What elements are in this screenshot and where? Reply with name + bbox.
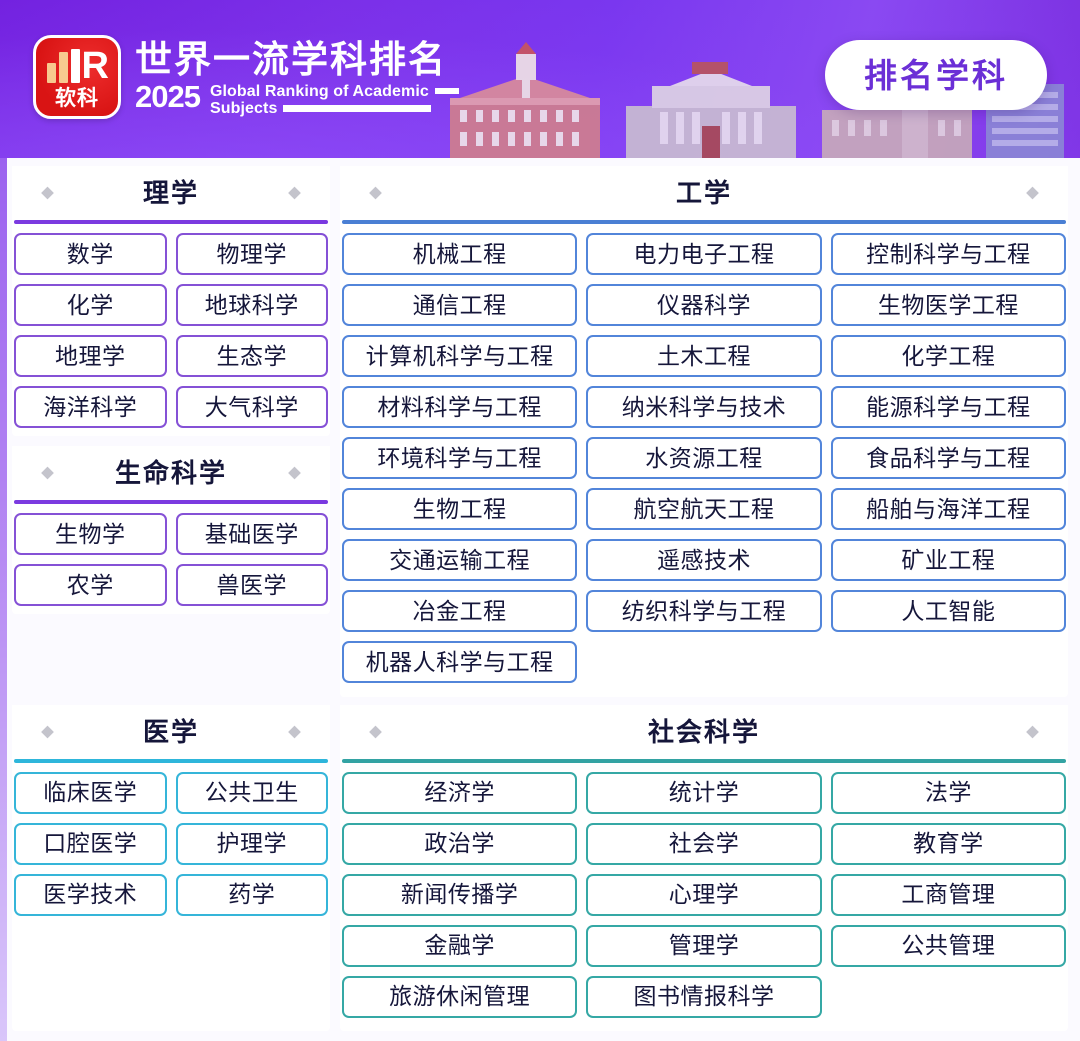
subject-item[interactable]: 临床医学: [14, 772, 167, 814]
banner-title-en-line2: Subjects: [210, 100, 278, 117]
section-title: 医学: [143, 719, 199, 745]
banner-title-en-line1: Global Ranking of Academic: [210, 83, 429, 100]
left-edge-accent-strip: [0, 158, 7, 1041]
subject-list: 临床医学 公共卫生 口腔医学 护理学 医学技术 药学: [12, 772, 330, 916]
subject-list: 经济学 统计学 法学 政治学 社会学 教育学 新闻传播学 心理学 工商管理 金融…: [340, 772, 1068, 1018]
banner-title-cn: 世界一流学科排名: [135, 40, 459, 80]
subject-item[interactable]: 心理学: [586, 874, 821, 916]
subject-item[interactable]: 化学: [14, 284, 167, 326]
subject-item[interactable]: 图书情报科学: [586, 976, 821, 1018]
section-title: 生命科学: [115, 460, 227, 486]
section-header: 医学: [12, 705, 330, 759]
logo-brand-cn: 软科: [36, 88, 118, 109]
bar-chart-icon: [47, 49, 80, 83]
subject-item[interactable]: 电力电子工程: [586, 233, 821, 275]
section-title: 工学: [676, 180, 732, 206]
subject-item[interactable]: 土木工程: [586, 335, 821, 377]
subject-item[interactable]: 仪器科学: [586, 284, 821, 326]
section-medical-sciences: 医学 临床医学 公共卫生 口腔医学 护理学 医学技术 药学: [12, 705, 330, 1032]
subject-item[interactable]: 纺织科学与工程: [586, 590, 821, 632]
subject-item[interactable]: 生物学: [14, 513, 167, 555]
logo-letter-r: R: [82, 47, 109, 85]
diamond-icon: [369, 187, 382, 200]
section-engineering: 工学 机械工程 电力电子工程 控制科学与工程 通信工程 仪器科学 生物医学工程 …: [340, 166, 1068, 697]
page-banner: R 软科 世界一流学科排名 2025 Global Ranking of Aca…: [0, 0, 1080, 158]
subject-item[interactable]: 政治学: [342, 823, 577, 865]
subject-item[interactable]: 矿业工程: [831, 539, 1066, 581]
subject-item[interactable]: 环境科学与工程: [342, 437, 577, 479]
subject-item[interactable]: 经济学: [342, 772, 577, 814]
subject-item[interactable]: 教育学: [831, 823, 1066, 865]
diamond-icon: [288, 725, 301, 738]
subject-item[interactable]: 化学工程: [831, 335, 1066, 377]
subject-item[interactable]: 统计学: [586, 772, 821, 814]
subject-item[interactable]: 船舶与海洋工程: [831, 488, 1066, 530]
shanghairanking-logo-icon: R 软科: [33, 35, 121, 119]
subject-item[interactable]: 物理学: [176, 233, 329, 275]
subject-item[interactable]: 计算机科学与工程: [342, 335, 577, 377]
brand-logo[interactable]: R 软科 世界一流学科排名 2025 Global Ranking of Aca…: [33, 35, 459, 119]
subject-item[interactable]: 机械工程: [342, 233, 577, 275]
subject-item[interactable]: 能源科学与工程: [831, 386, 1066, 428]
subject-list: 机械工程 电力电子工程 控制科学与工程 通信工程 仪器科学 生物医学工程 计算机…: [340, 233, 1068, 683]
subject-item[interactable]: 生态学: [176, 335, 329, 377]
subject-item[interactable]: 通信工程: [342, 284, 577, 326]
subject-item[interactable]: 航空航天工程: [586, 488, 821, 530]
subject-item[interactable]: 基础医学: [176, 513, 329, 555]
subject-item[interactable]: 农学: [14, 564, 167, 606]
subject-item[interactable]: 法学: [831, 772, 1066, 814]
section-header: 工学: [340, 166, 1068, 220]
subject-list: 生物学 基础医学 农学 兽医学: [12, 513, 330, 606]
subject-item[interactable]: 管理学: [586, 925, 821, 967]
subject-item[interactable]: 旅游休闲管理: [342, 976, 577, 1018]
subject-item[interactable]: 社会学: [586, 823, 821, 865]
subject-list: 数学 物理学 化学 地球科学 地理学 生态学 海洋科学 大气科学: [12, 233, 330, 428]
diamond-icon: [41, 467, 54, 480]
subject-item[interactable]: 海洋科学: [14, 386, 167, 428]
subject-item[interactable]: 冶金工程: [342, 590, 577, 632]
section-header: 社会科学: [340, 705, 1068, 759]
subject-item[interactable]: 兽医学: [176, 564, 329, 606]
subject-item[interactable]: 遥感技术: [586, 539, 821, 581]
subject-item[interactable]: 纳米科学与技术: [586, 386, 821, 428]
decorative-dash-long: [283, 105, 431, 112]
diamond-icon: [288, 467, 301, 480]
diamond-icon: [41, 725, 54, 738]
banner-year: 2025: [135, 81, 200, 112]
diamond-icon: [41, 187, 54, 200]
subject-item[interactable]: 药学: [176, 874, 329, 916]
subject-item[interactable]: 控制科学与工程: [831, 233, 1066, 275]
section-header: 理学: [12, 166, 330, 220]
subject-directory: 理学 数学 物理学 化学 地球科学 地理学 生态学 海洋科学 大气科学: [0, 158, 1080, 1041]
subject-item[interactable]: 新闻传播学: [342, 874, 577, 916]
subject-item[interactable]: 地球科学: [176, 284, 329, 326]
subject-item[interactable]: 材料科学与工程: [342, 386, 577, 428]
subject-item[interactable]: 医学技术: [14, 874, 167, 916]
diamond-icon: [1026, 187, 1039, 200]
subject-item[interactable]: 工商管理: [831, 874, 1066, 916]
subject-item[interactable]: 水资源工程: [586, 437, 821, 479]
section-title: 理学: [143, 180, 199, 206]
section-accent-rule: [14, 500, 328, 504]
subject-item[interactable]: 大气科学: [176, 386, 329, 428]
section-accent-rule: [14, 220, 328, 224]
subject-item[interactable]: 公共管理: [831, 925, 1066, 967]
section-accent-rule: [14, 759, 328, 763]
section-header: 生命科学: [12, 446, 330, 500]
banner-title-block: 世界一流学科排名 2025 Global Ranking of Academic…: [135, 38, 459, 117]
subject-item[interactable]: 口腔医学: [14, 823, 167, 865]
diamond-icon: [369, 725, 382, 738]
decorative-dash-short: [435, 88, 459, 94]
subject-item[interactable]: 护理学: [176, 823, 329, 865]
ranking-subjects-pill-button[interactable]: 排名学科: [825, 40, 1047, 110]
subject-item[interactable]: 生物工程: [342, 488, 577, 530]
section-natural-sciences: 理学 数学 物理学 化学 地球科学 地理学 生态学 海洋科学 大气科学: [12, 166, 330, 436]
section-accent-rule: [342, 759, 1066, 763]
subject-item[interactable]: 地理学: [14, 335, 167, 377]
subject-item[interactable]: 数学: [14, 233, 167, 275]
subject-item[interactable]: 生物医学工程: [831, 284, 1066, 326]
subject-item[interactable]: 交通运输工程: [342, 539, 577, 581]
section-life-sciences: 生命科学 生物学 基础医学 农学 兽医学: [12, 446, 330, 614]
subject-item[interactable]: 食品科学与工程: [831, 437, 1066, 479]
subject-item[interactable]: 金融学: [342, 925, 577, 967]
section-title: 社会科学: [648, 719, 760, 745]
subject-item[interactable]: 公共卫生: [176, 772, 329, 814]
diamond-icon: [1026, 725, 1039, 738]
section-accent-rule: [342, 220, 1066, 224]
subject-item[interactable]: 人工智能: [831, 590, 1066, 632]
subject-item[interactable]: 机器人科学与工程: [342, 641, 577, 683]
diamond-icon: [288, 187, 301, 200]
section-social-sciences: 社会科学 经济学 统计学 法学 政治学 社会学 教育学 新闻传播学 心理学 工商…: [340, 705, 1068, 1032]
